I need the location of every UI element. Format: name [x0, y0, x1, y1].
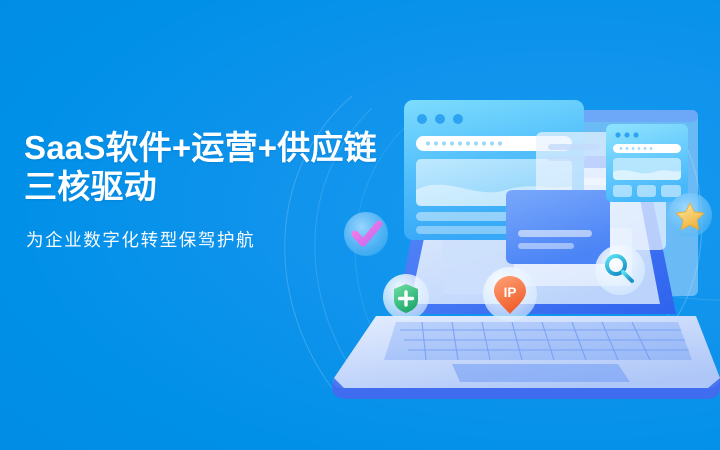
browser-window-small: [606, 124, 688, 202]
promo-banner: SaaS软件+运营+供应链 三核驱动 为企业数字化转型保驾护航: [0, 0, 720, 450]
window-dot: [624, 132, 629, 137]
hero-illustration: IP: [300, 78, 720, 428]
ip-badge: IP: [483, 267, 537, 321]
window-dot: [615, 132, 620, 137]
star-badge: [668, 193, 712, 237]
search-badge: [595, 245, 645, 295]
ip-badge-label: IP: [504, 285, 517, 300]
content-card: [506, 190, 610, 264]
trackpad: [452, 364, 630, 382]
window-dot: [453, 114, 463, 124]
window-dot: [435, 114, 445, 124]
window-dot: [633, 132, 638, 137]
address-bar: [613, 144, 681, 153]
window-dot: [417, 114, 427, 124]
shield-badge: [383, 274, 429, 320]
check-badge: [344, 212, 388, 256]
keyboard: [384, 322, 692, 360]
